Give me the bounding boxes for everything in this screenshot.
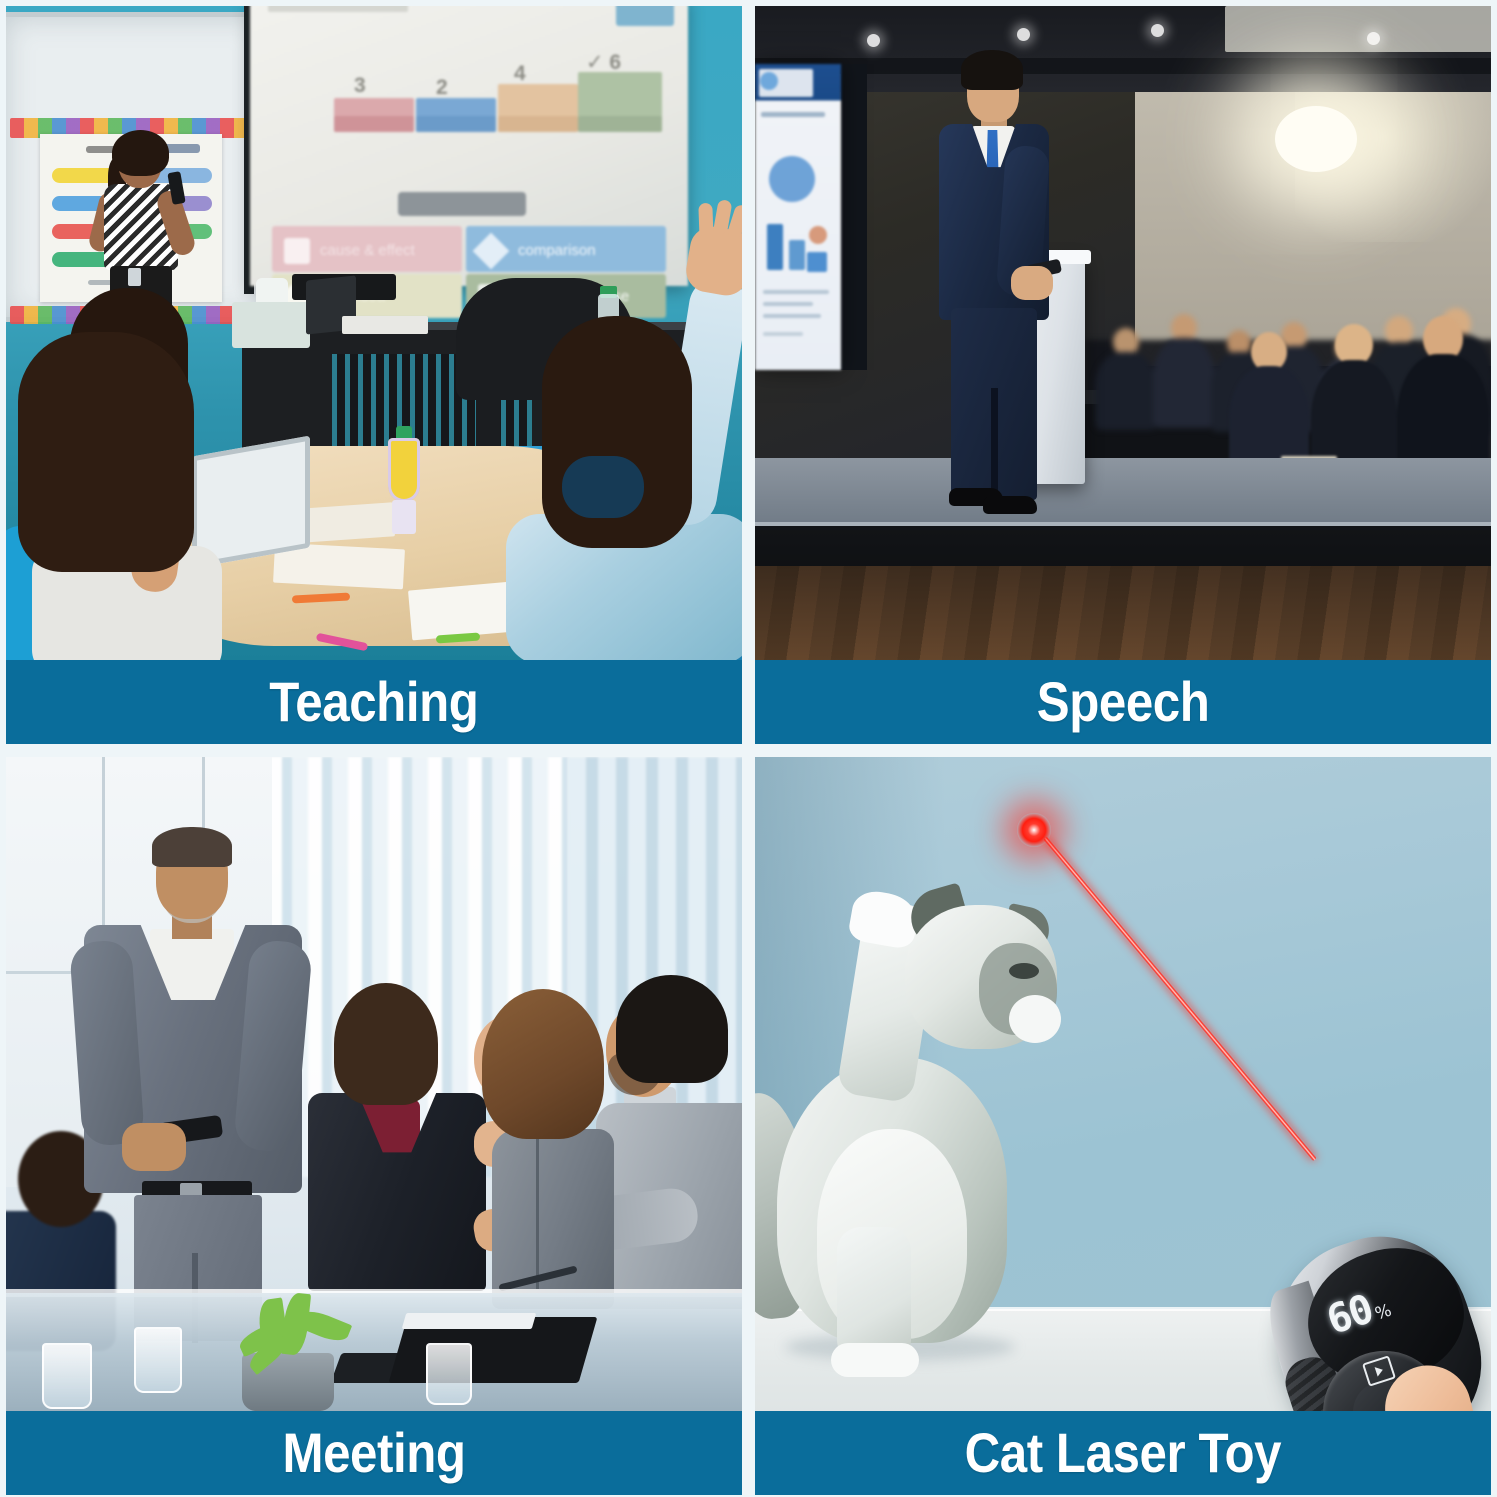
presentation-screen (755, 64, 841, 370)
water-glass-1 (134, 1327, 182, 1393)
table-papers (402, 1313, 537, 1329)
presenter-standing (68, 833, 318, 1333)
tissue-box (232, 302, 310, 348)
student-raising-hand (506, 306, 742, 660)
slide-count-3: 4 (514, 62, 526, 86)
laser-dot (1017, 813, 1051, 847)
use-case-collage: 3 2 4 ✓ 6 cause & effect (0, 0, 1497, 1497)
meeting-photo (6, 757, 742, 1411)
student-left (18, 332, 218, 660)
ceiling-panel (1225, 6, 1491, 52)
caption-label: Speech (1037, 674, 1210, 730)
caption-cat-laser-toy: Cat Laser Toy (755, 1411, 1491, 1495)
caption-label: Meeting (282, 1425, 465, 1481)
caption-meeting: Meeting (6, 1411, 742, 1495)
slide-option-comparison: comparison (466, 226, 666, 272)
caption-teaching: Teaching (6, 660, 742, 744)
teaching-photo: 3 2 4 ✓ 6 cause & effect (6, 6, 742, 660)
notebook-c (408, 582, 516, 641)
caption-speech: Speech (755, 660, 1491, 744)
slide-option-cause-effect: cause & effect (272, 226, 462, 272)
table-plant (232, 1293, 352, 1369)
floor-shading (755, 566, 1491, 660)
slide-count-1: 3 (354, 74, 366, 98)
panel-cat-laser-toy[interactable]: 60 % Cat Laser Toy (755, 757, 1491, 1495)
desk-paper (342, 316, 428, 334)
cat-front-paw (831, 1343, 919, 1377)
slide-count-2: 2 (436, 76, 448, 100)
screen-bezel (841, 64, 867, 370)
water-glass-2 (42, 1343, 92, 1409)
conference-table (6, 1293, 742, 1411)
spot-light (1275, 106, 1357, 172)
panel-meeting[interactable]: Meeting (6, 757, 742, 1495)
speaker-figure (925, 58, 1061, 528)
panel-teaching[interactable]: 3 2 4 ✓ 6 cause & effect (6, 6, 742, 744)
caption-label: Cat Laser Toy (965, 1425, 1282, 1481)
presenter-remote-device[interactable]: 60 % (1261, 1225, 1491, 1411)
desk-trophy (388, 426, 420, 536)
cat-eye (1009, 963, 1039, 979)
cat-muzzle (1009, 995, 1061, 1043)
caption-label: Teaching (269, 674, 478, 730)
cat-laser-photo: 60 % (755, 757, 1491, 1411)
device-display-unit: % (1373, 1301, 1395, 1325)
slide-inject-button (616, 6, 674, 26)
speech-photo (755, 6, 1491, 660)
water-glass-3 (426, 1343, 472, 1405)
panel-speech[interactable]: Speech (755, 6, 1491, 744)
projected-slide: 3 2 4 ✓ 6 cause & effect (250, 6, 688, 286)
slide-show-image-button (398, 192, 526, 216)
